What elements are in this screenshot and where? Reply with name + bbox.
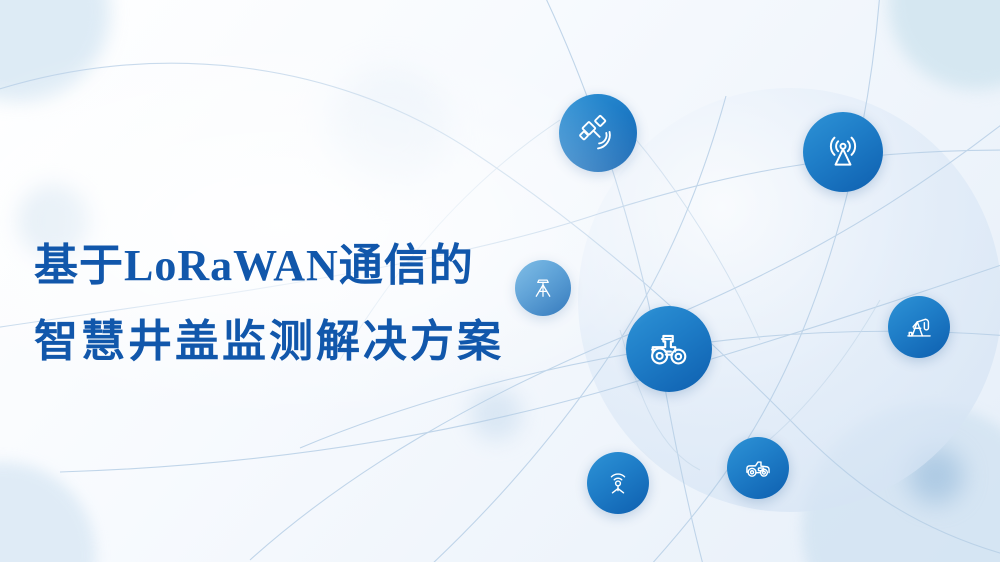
signal-sensor-icon [601, 466, 635, 500]
node-radio-tower[interactable] [803, 112, 883, 192]
robot-mower-icon [741, 451, 775, 485]
title-line-1: 基于LoRaWAN通信的 [34, 228, 554, 304]
oil-pump-icon [902, 310, 936, 344]
node-robot-mower[interactable] [727, 437, 789, 499]
node-tractor[interactable] [626, 306, 712, 392]
title-slide: 基于LoRaWAN通信的 智慧井盖监测解决方案 [0, 0, 1000, 562]
tractor-icon [644, 324, 694, 374]
node-oil-pump[interactable] [888, 296, 950, 358]
title-block: 基于LoRaWAN通信的 智慧井盖监测解决方案 [34, 228, 554, 380]
title-line-2: 智慧井盖监测解决方案 [34, 304, 554, 380]
radio-tower-icon [820, 129, 866, 175]
satellite-icon [576, 111, 620, 155]
node-satellite[interactable] [559, 94, 637, 172]
node-signal-sensor[interactable] [587, 452, 649, 514]
